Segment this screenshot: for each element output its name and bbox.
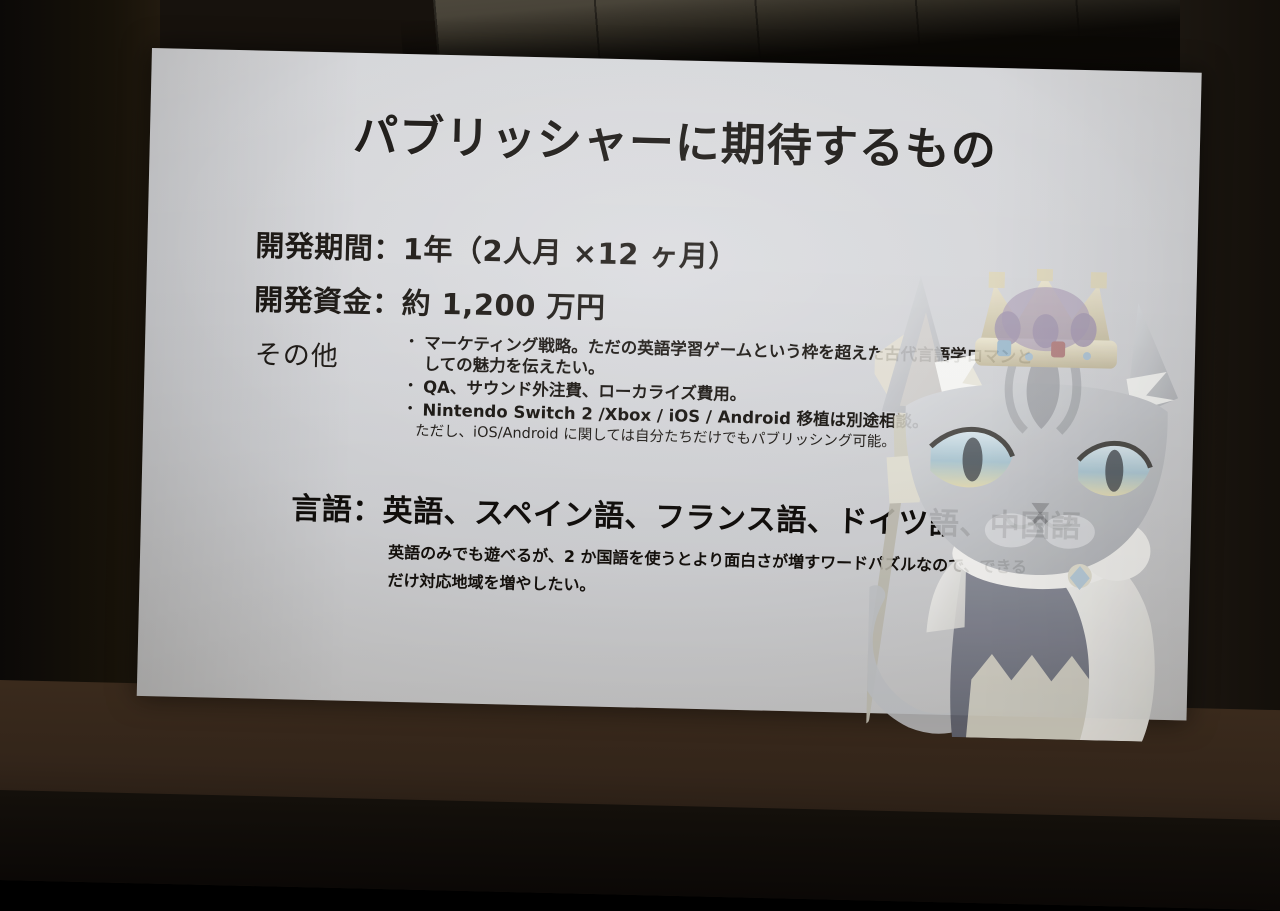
crown-icon xyxy=(975,265,1119,369)
slide-title: パブリッシャーに期待するもの xyxy=(149,94,1200,184)
development-period-line: 開発期間：1年（2人月 ×12 ヶ月） xyxy=(255,222,739,275)
other-label: その他 xyxy=(254,333,339,374)
presentation-slide: パブリッシャーに期待するもの 開発期間：1年（2人月 ×12 ヶ月） 開発資金：… xyxy=(137,48,1202,721)
bullet-marker-icon: ・ xyxy=(403,332,420,352)
bullet-marker-icon: ・ xyxy=(402,376,419,396)
bullet-marker-icon: ・ xyxy=(401,399,418,419)
development-budget-line: 開発資金：約 1,200 万円 xyxy=(254,276,606,326)
projection-screen: パブリッシャーに期待するもの 開発期間：1年（2人月 ×12 ヶ月） 開発資金：… xyxy=(137,48,1202,721)
cat-king-mascot xyxy=(866,265,1207,743)
conference-room-background: パブリッシャーに期待するもの 開発期間：1年（2人月 ×12 ヶ月） 開発資金：… xyxy=(0,0,1280,853)
